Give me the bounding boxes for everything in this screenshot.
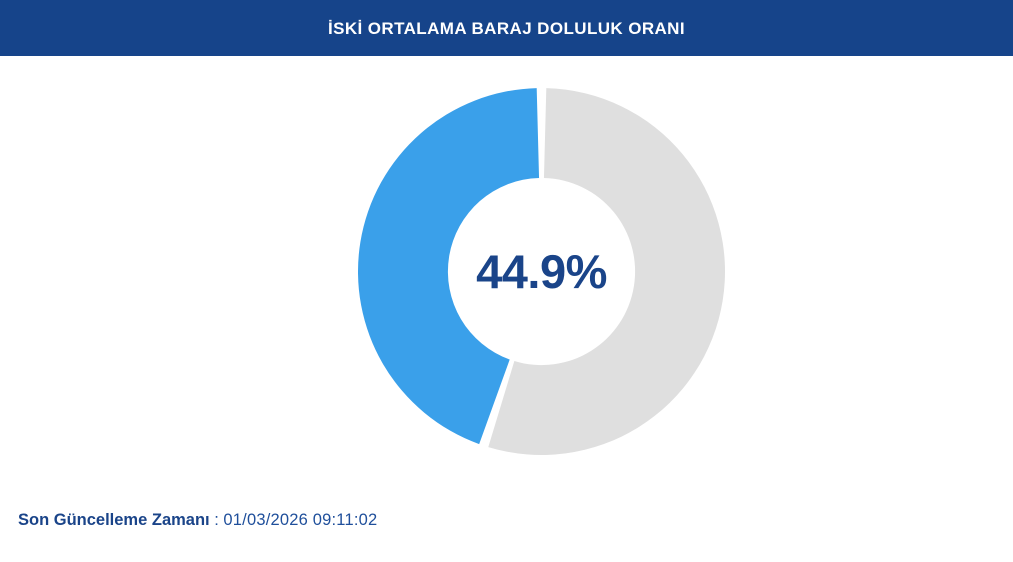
chart-region: 44.9%: [0, 56, 1013, 492]
last-update-timestamp: 01/03/2026 09:11:02: [223, 511, 377, 529]
footer-region: Son Güncelleme Zamanı : 01/03/2026 09:11…: [0, 492, 1013, 562]
last-update-separator: :: [210, 511, 224, 529]
page-header: İSKİ ORTALAMA BARAJ DOLULUK ORANI: [0, 0, 1013, 56]
donut-svg: [358, 88, 725, 455]
page-title: İSKİ ORTALAMA BARAJ DOLULUK ORANI: [328, 20, 685, 37]
last-update-line: Son Güncelleme Zamanı : 01/03/2026 09:11…: [18, 511, 377, 531]
last-update-label: Son Güncelleme Zamanı: [18, 511, 210, 529]
dam-occupancy-donut-chart: 44.9%: [358, 88, 725, 455]
